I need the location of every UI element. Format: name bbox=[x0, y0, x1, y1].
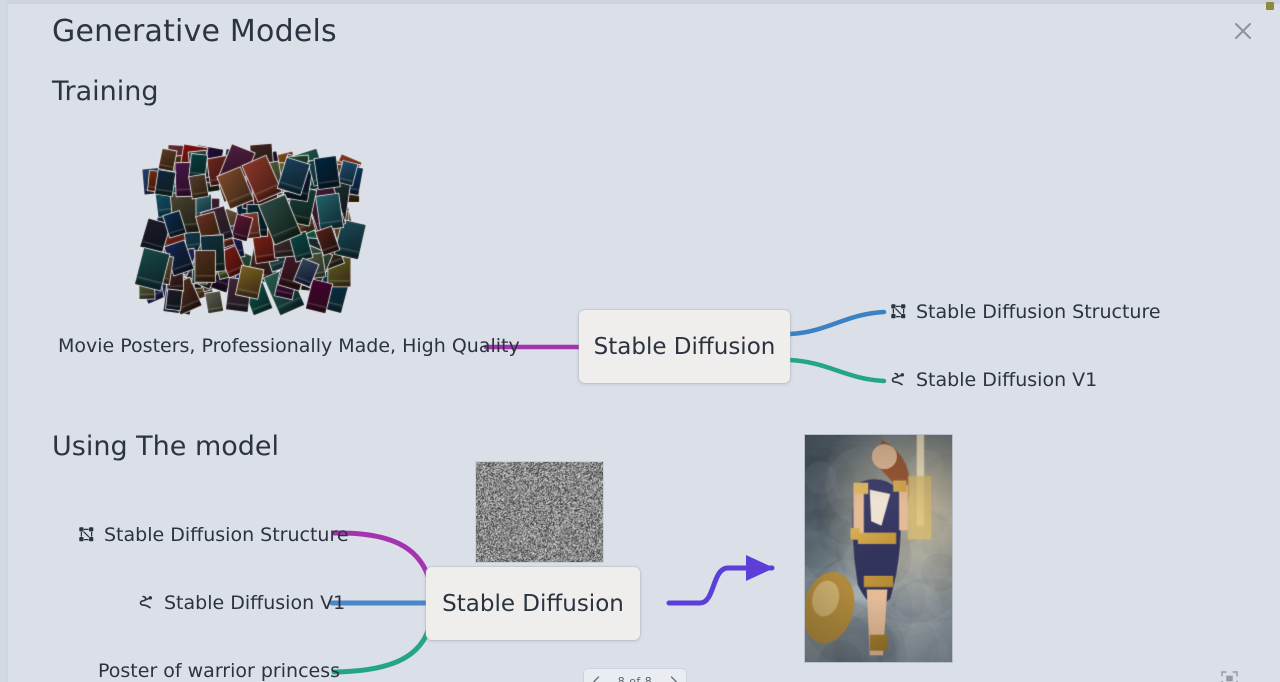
fit-screen-icon[interactable] bbox=[1218, 668, 1240, 682]
node-stable-diffusion-inference[interactable]: Stable Diffusion bbox=[426, 567, 640, 640]
page-navigator[interactable]: 8 of 8 bbox=[583, 668, 687, 682]
page-title: Generative Models bbox=[52, 14, 337, 49]
dataset-label: Movie Posters, Professionally Made, High… bbox=[58, 335, 520, 357]
link-model-to-v1 bbox=[790, 360, 884, 381]
chevron-left-icon[interactable] bbox=[592, 676, 601, 682]
dataset-label-text: Movie Posters, Professionally Made, High… bbox=[58, 335, 520, 357]
link-model-to-structure bbox=[790, 312, 884, 334]
link-prompt-to-model bbox=[334, 631, 428, 672]
movie-poster-collage-image bbox=[134, 140, 368, 318]
structure-nodes-icon bbox=[890, 303, 909, 322]
chevron-right-icon[interactable] bbox=[669, 676, 678, 682]
window-left-edge bbox=[0, 0, 8, 682]
section-heading-using: Using The model bbox=[52, 431, 279, 462]
fork-branch-icon bbox=[890, 371, 909, 390]
window-top-edge bbox=[0, 0, 1280, 4]
page-indicator: 8 of 8 bbox=[618, 675, 653, 682]
slide-canvas: Generative Models Training Movie Posters… bbox=[0, 0, 1280, 682]
latent-noise-image bbox=[475, 461, 604, 563]
input-prompt-text: Poster of warrior princess bbox=[98, 660, 340, 682]
input-label-text: Stable Diffusion V1 bbox=[164, 592, 345, 614]
link-model-to-output bbox=[669, 568, 772, 603]
node-stable-diffusion-training[interactable]: Stable Diffusion bbox=[579, 310, 790, 383]
output-label-text: Stable Diffusion Structure bbox=[916, 301, 1161, 323]
input-stable-diffusion-structure: Stable Diffusion Structure bbox=[78, 524, 349, 546]
status-indicator-dot bbox=[1266, 2, 1274, 10]
node-label: Stable Diffusion bbox=[594, 334, 776, 360]
warrior-princess-output-image bbox=[804, 434, 953, 663]
input-stable-diffusion-v1: Stable Diffusion V1 bbox=[138, 592, 345, 614]
node-label: Stable Diffusion bbox=[442, 591, 624, 617]
output-label-text: Stable Diffusion V1 bbox=[916, 369, 1097, 391]
output-stable-diffusion-v1: Stable Diffusion V1 bbox=[890, 369, 1097, 391]
section-heading-training: Training bbox=[52, 76, 159, 107]
fork-branch-icon bbox=[138, 594, 157, 613]
input-label-text: Poster of warrior princess bbox=[98, 660, 340, 682]
close-icon[interactable] bbox=[1226, 14, 1260, 48]
structure-nodes-icon bbox=[78, 526, 97, 545]
input-label-text: Stable Diffusion Structure bbox=[104, 524, 349, 546]
output-stable-diffusion-structure: Stable Diffusion Structure bbox=[890, 301, 1161, 323]
